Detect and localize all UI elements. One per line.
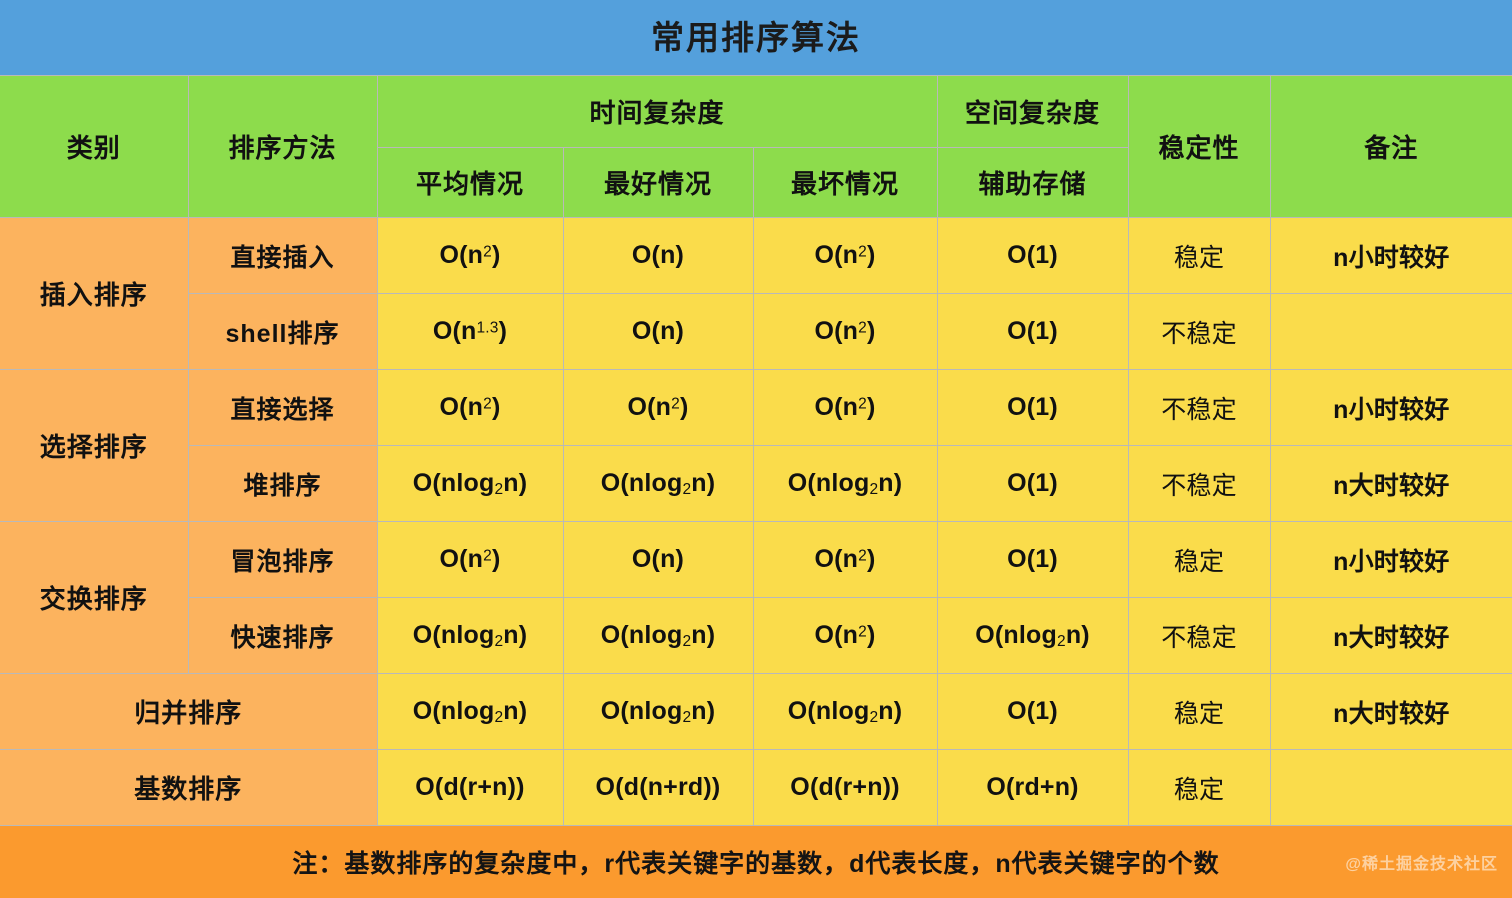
table-row: 归并排序O(nlog2n)O(nlog2n)O(nlog2n)O(1)稳定n大时… [0, 674, 1512, 750]
cell-worst-case: O(d(r+n)) [753, 750, 937, 826]
note-text: 注：基数排序的复杂度中，r代表关键字的基数，d代表长度，n代表关键字的个数 [292, 844, 1219, 880]
header-stability: 稳定性 [1128, 76, 1270, 218]
table-row: 插入排序直接插入O(n2)O(n)O(n2)O(1)稳定n小时较好 [0, 218, 1512, 294]
cell-stability: 不稳定 [1128, 370, 1270, 446]
cell-auxiliary-storage: O(1) [937, 522, 1128, 598]
cell-auxiliary-storage: O(1) [937, 218, 1128, 294]
header-best-case: 最好情况 [563, 148, 753, 218]
cell-worst-case: O(n2) [753, 218, 937, 294]
header-remarks: 备注 [1270, 76, 1512, 218]
cell-remarks: n大时较好 [1270, 446, 1512, 522]
cell-remarks [1270, 750, 1512, 826]
cell-remarks: n小时较好 [1270, 522, 1512, 598]
table-row: shell排序O(n1.3)O(n)O(n2)O(1)不稳定 [0, 294, 1512, 370]
cell-auxiliary-storage: O(rd+n) [937, 750, 1128, 826]
cell-auxiliary-storage: O(1) [937, 370, 1128, 446]
cell-best-case: O(nlog2n) [563, 598, 753, 674]
cell-average-case: O(n2) [377, 218, 563, 294]
cell-stability: 不稳定 [1128, 598, 1270, 674]
sorting-algorithms-table-sheet: 常用排序算法 类别 排序方法 时间复杂度 空间复杂度 稳定性 备注 平均情况 [0, 0, 1512, 898]
cell-worst-case: O(nlog2n) [753, 446, 937, 522]
cell-category-merged: 基数排序 [0, 750, 377, 826]
cell-stability: 不稳定 [1128, 446, 1270, 522]
cell-best-case: O(nlog2n) [563, 446, 753, 522]
cell-category-merged: 归并排序 [0, 674, 377, 750]
cell-stability: 稳定 [1128, 750, 1270, 826]
cell-average-case: O(nlog2n) [377, 674, 563, 750]
cell-remarks: n大时较好 [1270, 598, 1512, 674]
cell-best-case: O(n) [563, 294, 753, 370]
header-average-case: 平均情况 [377, 148, 563, 218]
cell-stability: 稳定 [1128, 218, 1270, 294]
cell-worst-case: O(n2) [753, 370, 937, 446]
cell-auxiliary-storage: O(1) [937, 294, 1128, 370]
header-category: 类别 [0, 76, 188, 218]
cell-best-case: O(n) [563, 522, 753, 598]
cell-category: 插入排序 [0, 218, 188, 370]
watermark: @稀土掘金技术社区 [1345, 850, 1498, 874]
cell-method: shell排序 [188, 294, 377, 370]
header-row-primary: 类别 排序方法 时间复杂度 空间复杂度 稳定性 备注 [0, 76, 1512, 148]
cell-method: 堆排序 [188, 446, 377, 522]
header-time-complexity: 时间复杂度 [377, 76, 937, 148]
algorithms-table: 类别 排序方法 时间复杂度 空间复杂度 稳定性 备注 平均情况 最好情况 最坏情… [0, 75, 1512, 826]
header-auxiliary-storage: 辅助存储 [937, 148, 1128, 218]
cell-method: 冒泡排序 [188, 522, 377, 598]
cell-stability: 稳定 [1128, 522, 1270, 598]
cell-method: 直接选择 [188, 370, 377, 446]
page-title: 常用排序算法 [651, 21, 861, 54]
cell-stability: 不稳定 [1128, 294, 1270, 370]
table-row: 选择排序直接选择O(n2)O(n2)O(n2)O(1)不稳定n小时较好 [0, 370, 1512, 446]
table-row: 交换排序冒泡排序O(n2)O(n)O(n2)O(1)稳定n小时较好 [0, 522, 1512, 598]
cell-worst-case: O(n2) [753, 598, 937, 674]
cell-average-case: O(d(r+n)) [377, 750, 563, 826]
cell-best-case: O(n2) [563, 370, 753, 446]
cell-remarks: n小时较好 [1270, 370, 1512, 446]
cell-best-case: O(n) [563, 218, 753, 294]
cell-worst-case: O(n2) [753, 522, 937, 598]
table-row: 基数排序O(d(r+n))O(d(n+rd))O(d(r+n))O(rd+n)稳… [0, 750, 1512, 826]
header-worst-case: 最坏情况 [753, 148, 937, 218]
table-row: 快速排序O(nlog2n)O(nlog2n)O(n2)O(nlog2n)不稳定n… [0, 598, 1512, 674]
title-bar: 常用排序算法 [0, 0, 1512, 75]
cell-average-case: O(nlog2n) [377, 446, 563, 522]
cell-remarks [1270, 294, 1512, 370]
cell-worst-case: O(nlog2n) [753, 674, 937, 750]
note-bar: 注：基数排序的复杂度中，r代表关键字的基数，d代表长度，n代表关键字的个数 @稀… [0, 826, 1512, 898]
table-body: 插入排序直接插入O(n2)O(n)O(n2)O(1)稳定n小时较好shell排序… [0, 218, 1512, 826]
cell-average-case: O(n2) [377, 370, 563, 446]
table-header: 类别 排序方法 时间复杂度 空间复杂度 稳定性 备注 平均情况 最好情况 最坏情… [0, 76, 1512, 218]
cell-best-case: O(d(n+rd)) [563, 750, 753, 826]
header-method: 排序方法 [188, 76, 377, 218]
cell-worst-case: O(n2) [753, 294, 937, 370]
header-space-complexity: 空间复杂度 [937, 76, 1128, 148]
cell-average-case: O(nlog2n) [377, 598, 563, 674]
cell-auxiliary-storage: O(1) [937, 446, 1128, 522]
cell-auxiliary-storage: O(1) [937, 674, 1128, 750]
cell-remarks: n小时较好 [1270, 218, 1512, 294]
cell-remarks: n大时较好 [1270, 674, 1512, 750]
cell-best-case: O(nlog2n) [563, 674, 753, 750]
cell-method: 直接插入 [188, 218, 377, 294]
cell-average-case: O(n1.3) [377, 294, 563, 370]
cell-method: 快速排序 [188, 598, 377, 674]
cell-stability: 稳定 [1128, 674, 1270, 750]
table-row: 堆排序O(nlog2n)O(nlog2n)O(nlog2n)O(1)不稳定n大时… [0, 446, 1512, 522]
cell-average-case: O(n2) [377, 522, 563, 598]
cell-category: 选择排序 [0, 370, 188, 522]
cell-category: 交换排序 [0, 522, 188, 674]
cell-auxiliary-storage: O(nlog2n) [937, 598, 1128, 674]
